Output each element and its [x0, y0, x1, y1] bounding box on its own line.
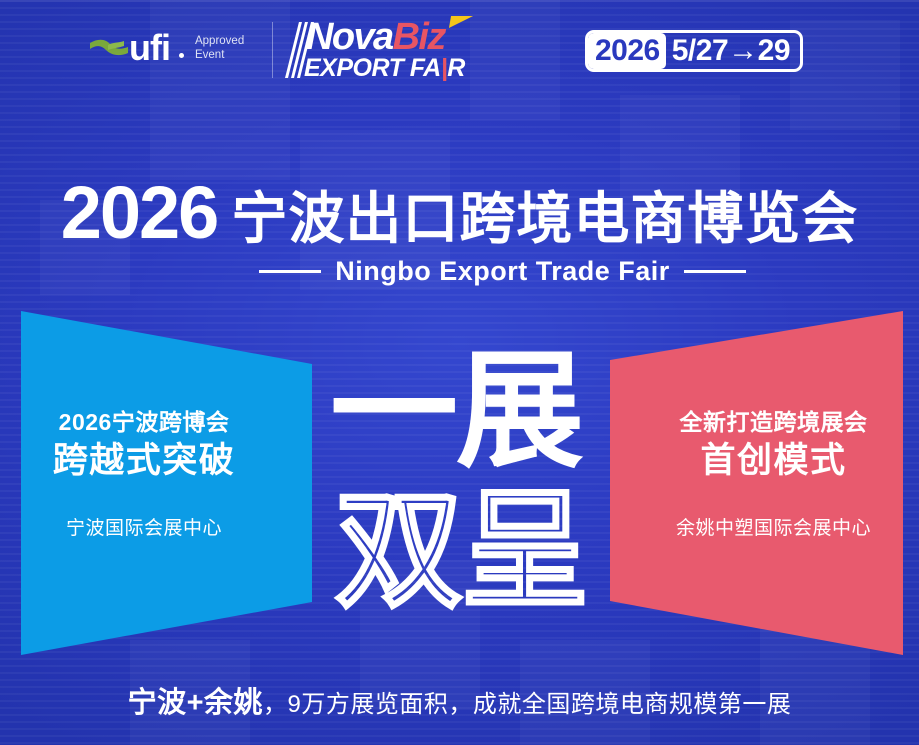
- right-panel-shape: [580, 290, 919, 660]
- title-row: 2026 宁波出口跨境电商博览会: [0, 178, 919, 248]
- title-year: 2026: [61, 178, 218, 248]
- subtitle-row: Ningbo Export Trade Fair: [0, 256, 919, 287]
- footer-tagline: 宁波+余姚，9万方展览面积，成就全国跨境电商规模第一展: [0, 679, 919, 721]
- banner-header: ufi Approved Event NovaBiz EXPORT FA|R 2…: [0, 0, 919, 100]
- center-slogan: 一展 双呈: [330, 348, 600, 638]
- slogan-line-top: 一展: [330, 348, 582, 476]
- export-fair-wordmark: EXPORT FA|R: [304, 56, 465, 81]
- ufi-swoosh-icon: [88, 34, 134, 62]
- biz-text: Biz: [393, 16, 445, 58]
- ufi-sub-line2: Event: [195, 49, 224, 61]
- ufi-approved-event-logo: ufi Approved Event: [88, 30, 244, 66]
- footer-strong-text: 宁波+余姚: [128, 687, 263, 719]
- main-title-block: 2026 宁波出口跨境电商博览会 Ningbo Export Trade Fai…: [0, 178, 919, 287]
- title-english: Ningbo Export Trade Fair: [335, 256, 670, 287]
- ufi-sub-line1: Approved: [195, 35, 244, 47]
- ufi-dot-icon: [179, 53, 184, 58]
- novabiz-export-fair-logo: NovaBiz EXPORT FA|R: [292, 20, 478, 82]
- promo-banner: ufi Approved Event NovaBiz EXPORT FA|R 2…: [0, 0, 919, 745]
- header-divider: [272, 22, 273, 78]
- right-venue-panel: 全新打造跨境展会 首创模式 余姚中塑国际会展中心: [580, 290, 919, 660]
- yellow-triangle-icon: [449, 16, 473, 28]
- novabiz-wordmark: NovaBiz: [306, 18, 445, 56]
- date-range: 5/27→29: [666, 33, 800, 69]
- footer-normal-text: ，9万方展览面积，成就全国跨境电商规模第一展: [263, 691, 791, 718]
- nova-text: Nova: [306, 16, 393, 58]
- export-fa-text: EXPORT FA: [304, 54, 441, 82]
- ufi-wordmark: ufi: [129, 30, 170, 66]
- title-chinese: 宁波出口跨境电商博览会: [231, 190, 858, 248]
- subtitle-rule-right: [684, 270, 746, 273]
- subtitle-rule-left: [259, 270, 321, 273]
- fair-r-text: R: [447, 54, 465, 82]
- left-venue-panel: 2026宁波跨博会 跨越式突破 宁波国际会展中心: [0, 290, 340, 660]
- left-panel-shape: [0, 290, 340, 660]
- ufi-approved-event-text: Approved Event: [195, 35, 244, 62]
- slogan-line-bottom: 双呈: [335, 488, 587, 616]
- event-date-badge: 2026 5/27→29: [585, 30, 803, 72]
- date-year: 2026: [588, 33, 666, 69]
